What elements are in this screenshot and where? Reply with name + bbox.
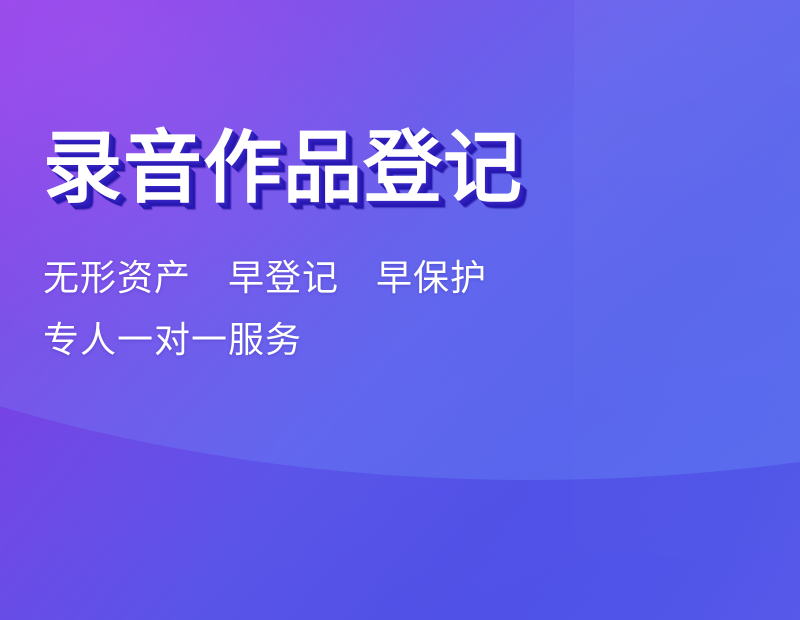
banner-subtitle-line-1: 无形资产 早登记 早保护 <box>43 260 603 296</box>
banner-headline: 录音作品登记 <box>43 126 603 210</box>
banner-subtitle-line-2: 专人一对一服务 <box>43 322 603 358</box>
promo-banner: 录音作品登记 无形资产 早登记 早保护 专人一对一服务 <box>0 0 800 620</box>
background-right-panel-shape <box>574 0 800 620</box>
banner-text-block: 录音作品登记 无形资产 早登记 早保护 专人一对一服务 <box>43 126 603 358</box>
